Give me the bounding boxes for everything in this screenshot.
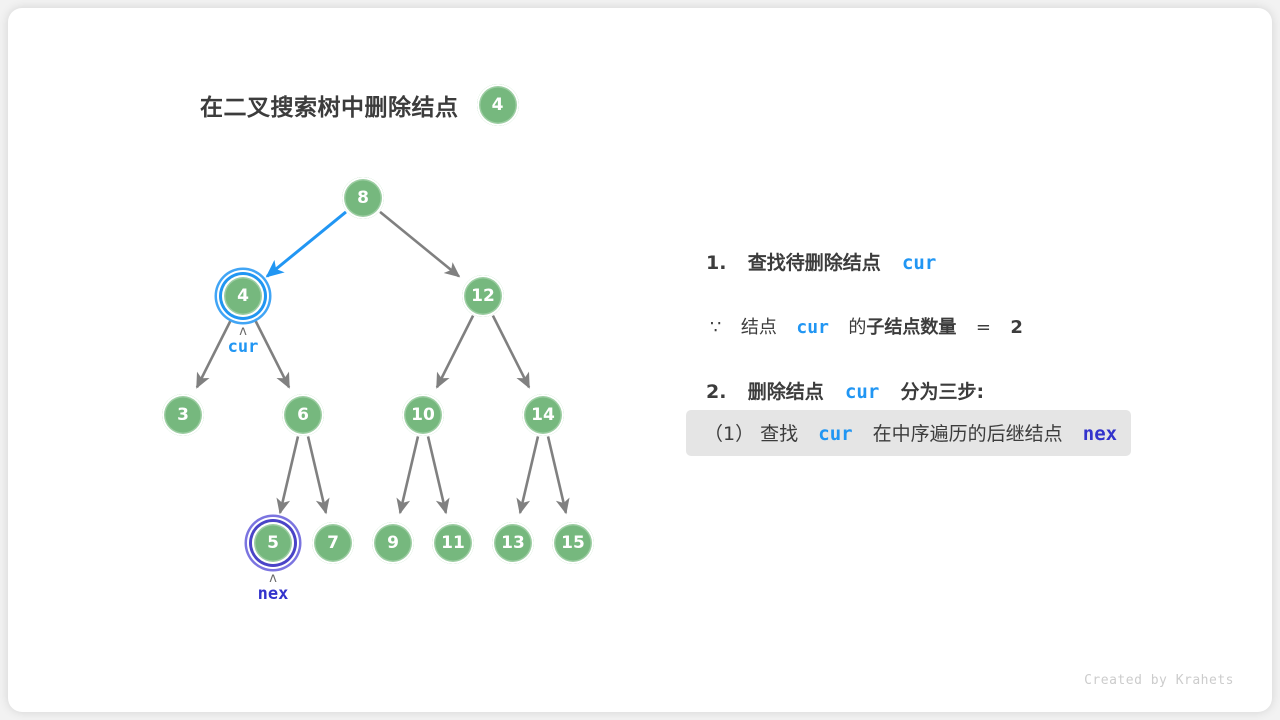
tree-edge [280, 436, 298, 512]
step-2-text-b: 分为三步: [901, 381, 985, 403]
tree-edge [520, 436, 538, 512]
step-1-index: 1. [706, 252, 726, 274]
reason-text-b: 的 [848, 317, 866, 338]
tree-node-15[interactable]: 15 [552, 522, 594, 564]
tree-node-4[interactable]: 4 [222, 275, 264, 317]
tree-node-3[interactable]: 3 [162, 394, 204, 436]
tree-node-10[interactable]: 10 [402, 394, 444, 436]
tree-node-13[interactable]: 13 [492, 522, 534, 564]
substep-1-text-a: 查找 [760, 423, 798, 445]
tree-node-14[interactable]: 14 [522, 394, 564, 436]
reason-equals: = [976, 317, 991, 338]
reason-var-cur: cur [796, 317, 829, 338]
substep-1-var-cur: cur [818, 423, 852, 445]
caret-icon: ʌ [258, 573, 289, 584]
reason-line: ∵ 结点 cur 的子结点数量 = 2 [710, 313, 1226, 339]
tree-edge [493, 316, 529, 388]
tree-node-7[interactable]: 7 [312, 522, 354, 564]
tree-node-5[interactable]: 5 [252, 522, 294, 564]
tree-edge [437, 316, 473, 388]
tree-edge [267, 212, 346, 276]
credit-text: Created by Krahets [1084, 673, 1234, 688]
caret-icon: ʌ [228, 326, 259, 337]
tree-edge [400, 436, 418, 512]
tree-edge [308, 436, 326, 512]
step-2-var-cur: cur [845, 381, 879, 403]
tree-node-9[interactable]: 9 [372, 522, 414, 564]
pointer-label-text: cur [228, 337, 259, 357]
step-2-index: 2. [706, 381, 726, 403]
reason-value: 2 [1010, 317, 1023, 338]
tree-edges-svg [8, 8, 668, 668]
tree-node-12[interactable]: 12 [462, 275, 504, 317]
edge-layer [197, 212, 566, 513]
tree-edge [428, 436, 446, 512]
reason-text-a: 结点 [741, 317, 777, 338]
pointer-label-text: nex [258, 584, 289, 604]
tree-node-11[interactable]: 11 [432, 522, 474, 564]
explanation-panel: 1. 查找待删除结点 cur ∵ 结点 cur 的子结点数量 = 2 [686, 248, 1226, 456]
substep-1-var-nex: nex [1083, 423, 1117, 445]
page-root: 在二叉搜索树中删除结点 4 8412361014579111315 ʌcurʌn… [0, 0, 1280, 720]
step-2-line: 2. 删除结点 cur 分为三步: [706, 377, 1226, 404]
content-card: 在二叉搜索树中删除结点 4 8412361014579111315 ʌcurʌn… [8, 8, 1272, 712]
step-2-text-a: 删除结点 [748, 381, 824, 403]
substep-1-text-b: 在中序遍历的后继结点 [873, 423, 1063, 445]
step-1-text: 查找待删除结点 [748, 252, 881, 274]
tree-edge [380, 212, 459, 276]
substep-1-highlighted-line: （1） 查找 cur 在中序遍历的后继结点 nex [686, 410, 1131, 456]
because-symbol: ∵ [710, 317, 721, 338]
pointer-label-cur: ʌcur [228, 326, 259, 357]
reason-emphasis: 子结点数量 [866, 317, 956, 338]
pointer-label-nex: ʌnex [258, 573, 289, 604]
tree-edge [548, 436, 566, 512]
substep-1-index: （1） [704, 423, 754, 445]
step-1-var-cur: cur [902, 252, 936, 274]
binary-search-tree-diagram: 8412361014579111315 ʌcurʌnex [8, 8, 668, 668]
tree-node-6[interactable]: 6 [282, 394, 324, 436]
tree-node-8[interactable]: 8 [342, 177, 384, 219]
step-1-line: 1. 查找待删除结点 cur [706, 248, 1226, 275]
